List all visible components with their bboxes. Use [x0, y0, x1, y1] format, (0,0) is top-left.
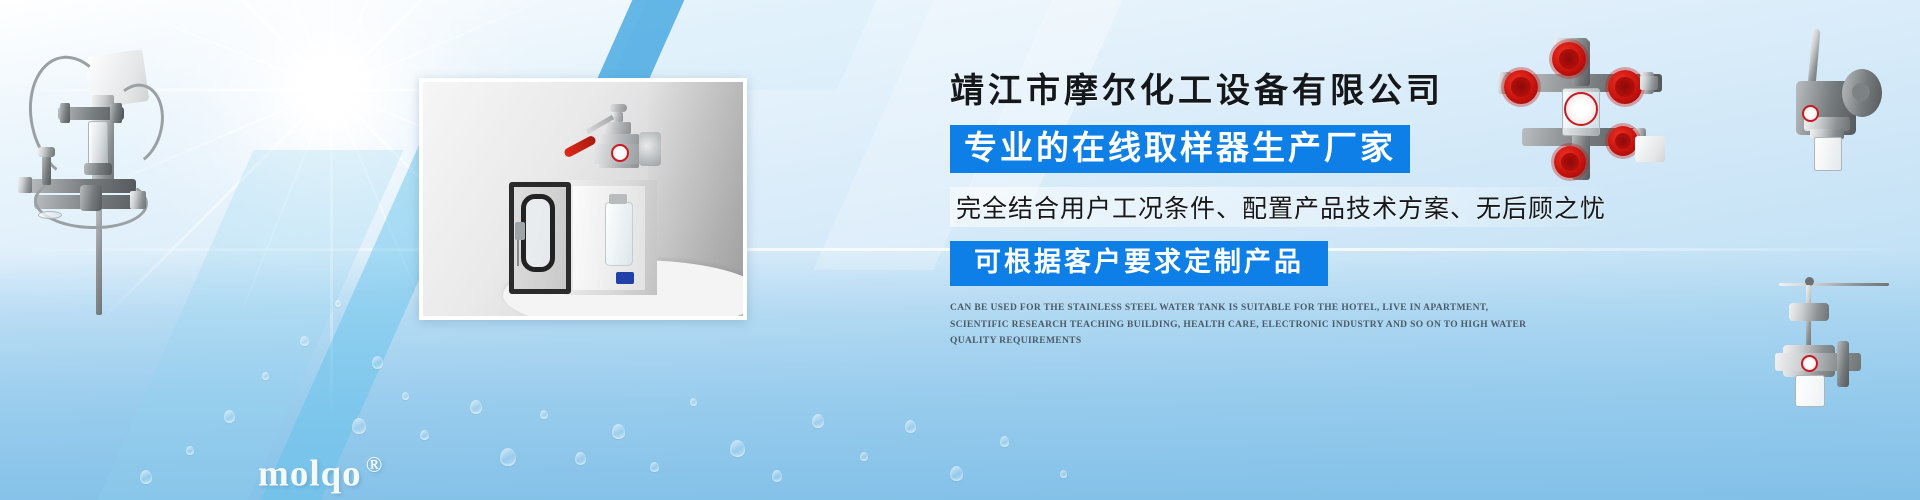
water-droplet: [352, 418, 366, 434]
water-droplet: [540, 410, 548, 419]
water-droplet: [402, 392, 409, 400]
water-droplet: [950, 466, 963, 481]
water-droplet: [1060, 470, 1067, 478]
banner-text-block: 靖江市摩尔化工设备有限公司 专业的在线取样器生产厂家 完全结合用户工况条件、配置…: [950, 72, 1710, 350]
water-droplet: [420, 430, 429, 440]
water-droplet: [1000, 436, 1009, 447]
water-droplet: [650, 462, 659, 472]
water-droplet: [262, 372, 269, 380]
company-name: 靖江市摩尔化工设备有限公司: [950, 72, 1710, 113]
water-droplet: [905, 420, 916, 433]
left-product-sampler-rig: [10, 25, 190, 315]
water-droplet: [860, 452, 868, 461]
water-droplet: [372, 356, 383, 369]
center-product-photo: [419, 78, 747, 320]
subheadline-text: 完全结合用户工况条件、配置产品技术方案、无后顾之忧: [950, 187, 1612, 227]
water-droplet: [140, 470, 152, 484]
water-droplet: [224, 410, 235, 423]
water-droplet: [500, 448, 516, 466]
water-droplet: [772, 470, 782, 482]
water-droplet: [300, 336, 309, 346]
valve-handwheel: [1552, 42, 1586, 76]
water-droplet: [690, 398, 697, 406]
water-droplet: [575, 452, 586, 465]
water-droplet: [470, 400, 482, 414]
right-product-wheel-valve: [1775, 255, 1915, 435]
english-description: CAN BE USED FOR THE STAINLESS STEEL WATE…: [950, 300, 1550, 350]
water-droplet: [186, 446, 194, 455]
headline-badge: 专业的在线取样器生产厂家: [950, 125, 1410, 173]
right-product-lever-valve: [1790, 25, 1910, 185]
water-droplet: [335, 300, 341, 307]
water-droplet: [612, 424, 625, 439]
water-droplet: [812, 414, 824, 428]
product-banner: 靖江市摩尔化工设备有限公司 专业的在线取样器生产厂家 完全结合用户工况条件、配置…: [0, 0, 1920, 500]
watermark-text: molqo: [258, 453, 362, 494]
custom-product-cta[interactable]: 可根据客户要求定制产品: [950, 241, 1328, 286]
watermark-logo: molqo®: [258, 452, 383, 495]
water-droplet: [730, 440, 745, 457]
registered-mark-icon: ®: [366, 452, 383, 477]
